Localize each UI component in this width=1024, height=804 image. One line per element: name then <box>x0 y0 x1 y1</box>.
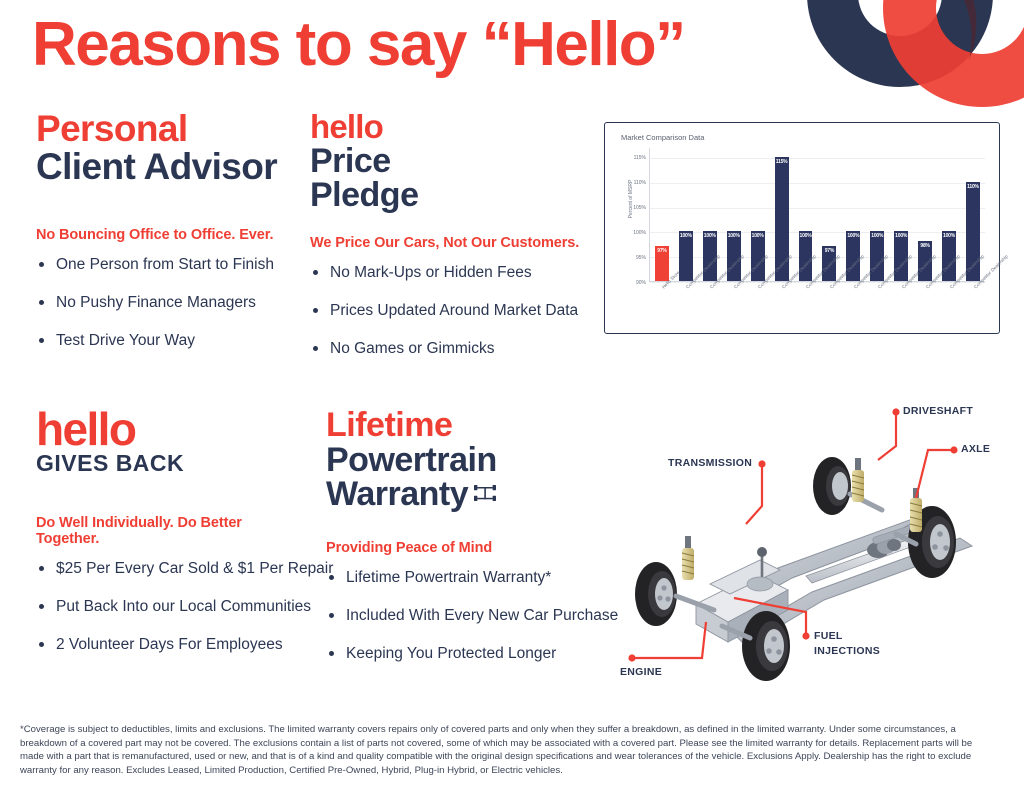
chassis-label-engine: ENGINE <box>620 666 662 679</box>
chassis-svg <box>610 398 1014 690</box>
chart-bars: 97%100%100%100%100%115%100%97%100%100%10… <box>650 148 985 281</box>
legal-footnote: *Coverage is subject to deductibles, lim… <box>20 723 985 777</box>
chart-bar-cell: 100% <box>674 148 698 281</box>
chart-bar-value-label: 100% <box>942 233 956 239</box>
market-comparison-chart-card: Market Comparison Data Percent of MSRP 9… <box>604 122 1000 334</box>
title-line-navy-2: Pledge <box>310 178 600 213</box>
chart-x-tick: Competitor Dealership <box>769 284 793 322</box>
title-line-navy-2-row: Warranty <box>326 477 606 512</box>
block-hello-price-pledge: hello Price Pledge We Price Our Cars, No… <box>310 110 600 377</box>
benefit-list: $25 Per Every Car Sold & $1 Per Repair P… <box>36 559 306 656</box>
chart-bar-value-label: 98% <box>918 243 932 249</box>
chart-x-tick: Competitor Dealership <box>673 284 697 322</box>
list-item: Test Drive Your Way <box>36 331 306 352</box>
list-item: No Pushy Finance Managers <box>36 293 306 314</box>
block-tagline: Do Well Individually. Do Better Together… <box>36 515 306 547</box>
benefit-list: Lifetime Powertrain Warranty* Included W… <box>326 568 606 665</box>
chassis-diagram: DRIVESHAFT AXLE TRANSMISSION FUEL INJECT… <box>610 398 1014 690</box>
chassis-label-transmission: TRANSMISSION <box>668 457 752 470</box>
chart-bar-value-label: 100% <box>846 233 860 239</box>
chart-bar-value-label: 110% <box>966 184 980 190</box>
chart-plot-area: Percent of MSRP 90%95%100%105%110%115% 9… <box>613 144 989 322</box>
chart-x-tick: Competitor Dealership <box>841 284 865 322</box>
chart-x-tick: Competitor Dealership <box>793 284 817 322</box>
chart-x-tick: Competitor Dealership <box>889 284 913 322</box>
hello-wordmark: hello <box>310 110 600 144</box>
title-line-navy: GIVES BACK <box>36 452 306 475</box>
block-hello-gives-back: hello GIVES BACK Do Well Individually. D… <box>36 408 306 673</box>
chart-bar-value-label: 115% <box>775 159 789 165</box>
title-line-navy-1: Price <box>310 144 600 179</box>
chart-bar-value-label: 100% <box>727 233 741 239</box>
chart-bar-value-label: 100% <box>799 233 813 239</box>
page-headline: Reasons to say “Hello” <box>32 12 685 77</box>
block-title: hello GIVES BACK <box>36 408 306 475</box>
chart-x-tick: Competitor Dealership <box>697 284 721 322</box>
list-item: No Games or Gimmicks <box>310 339 600 360</box>
block-tagline: No Bouncing Office to Office. Ever. <box>36 227 306 243</box>
title-line-navy: Client Advisor <box>36 148 306 186</box>
chart-y-tick-label: 95% <box>636 255 646 261</box>
block-title: Lifetime Powertrain Warranty <box>326 408 606 512</box>
chassis-label-driveshaft: DRIVESHAFT <box>903 405 973 418</box>
chart-y-tick-label: 90% <box>636 280 646 286</box>
chart-x-tick: Competitor Dealership <box>745 284 769 322</box>
chart-y-tick-label: 100% <box>633 230 646 236</box>
chart-bar-value-label: 100% <box>751 233 765 239</box>
chart-y-tick-label: 105% <box>633 205 646 211</box>
chart-bar-value-label: 100% <box>703 233 717 239</box>
benefit-list: No Mark-Ups or Hidden Fees Prices Update… <box>310 263 600 360</box>
chart-y-axis-label: Percent of MSRP <box>628 169 634 229</box>
chart-bar-value-label: 100% <box>679 233 693 239</box>
chart-y-tick-label: 110% <box>634 180 646 186</box>
chart-bar-cell: 97% <box>650 148 674 281</box>
list-item: Lifetime Powertrain Warranty* <box>326 568 606 589</box>
chart-y-tick-label: 115% <box>634 155 646 161</box>
infographic-page: Reasons to say “Hello” Personal Client A… <box>0 0 1024 804</box>
chart-title: Market Comparison Data <box>621 133 989 142</box>
list-item: No Mark-Ups or Hidden Fees <box>310 263 600 284</box>
decorative-rings-graphic <box>764 0 1024 112</box>
chassis-label-fuel-injections-line2: INJECTIONS <box>814 645 880 658</box>
chassis-label-axle: AXLE <box>961 443 990 456</box>
drivetrain-icon <box>472 483 498 507</box>
block-title: Personal Client Advisor <box>36 110 306 185</box>
list-item: Keeping You Protected Longer <box>326 644 606 665</box>
list-item: One Person from Start to Finish <box>36 255 306 276</box>
chart-x-axis-labels: Hello StoreCompetitor DealershipCompetit… <box>649 284 985 322</box>
chart-x-tick: Competitor Dealership <box>913 284 937 322</box>
list-item: 2 Volunteer Days For Employees <box>36 635 306 656</box>
block-tagline: Providing Peace of Mind <box>326 540 606 556</box>
chart-x-tick: Competitor Dealership <box>961 284 985 322</box>
list-item: Put Back Into our Local Communities <box>36 597 306 618</box>
title-line-red: Lifetime <box>326 408 606 443</box>
chart-x-tick: Competitor Dealership <box>721 284 745 322</box>
chart-bar: 100% <box>679 231 693 281</box>
chart-x-tick: Competitor Dealership <box>865 284 889 322</box>
title-line-navy-2: Warranty <box>326 477 468 512</box>
chart-x-tick: Hello Store <box>649 284 673 322</box>
title-line-navy-1: Powertrain <box>326 443 606 478</box>
benefit-list: One Person from Start to Finish No Pushy… <box>36 255 306 352</box>
list-item: Included With Every New Car Purchase <box>326 606 606 627</box>
block-personal-client-advisor: Personal Client Advisor No Bouncing Offi… <box>36 110 306 369</box>
chart-x-tick: Competitor Dealership <box>817 284 841 322</box>
title-line-red: Personal <box>36 110 306 148</box>
chart-plot: 90%95%100%105%110%115% 97%100%100%100%10… <box>649 148 985 282</box>
list-item: Prices Updated Around Market Data <box>310 301 600 322</box>
chart-bar: 97% <box>655 246 669 281</box>
block-lifetime-powertrain-warranty: Lifetime Powertrain Warranty <box>326 408 606 682</box>
list-item: $25 Per Every Car Sold & $1 Per Repair <box>36 559 306 580</box>
hello-wordmark: hello <box>36 408 306 452</box>
rings-svg <box>764 0 1024 112</box>
chassis-label-fuel-injections-line1: FUEL <box>814 630 843 643</box>
chart-bar-value-label: 97% <box>655 248 669 254</box>
block-tagline: We Price Our Cars, Not Our Customers. <box>310 235 600 251</box>
chart-bar-value-label: 100% <box>870 233 884 239</box>
chart-x-tick: Competitor Dealership <box>937 284 961 322</box>
chart-bar-value-label: 100% <box>894 233 908 239</box>
block-title: hello Price Pledge <box>310 110 600 213</box>
chart-bar-value-label: 97% <box>822 248 836 254</box>
